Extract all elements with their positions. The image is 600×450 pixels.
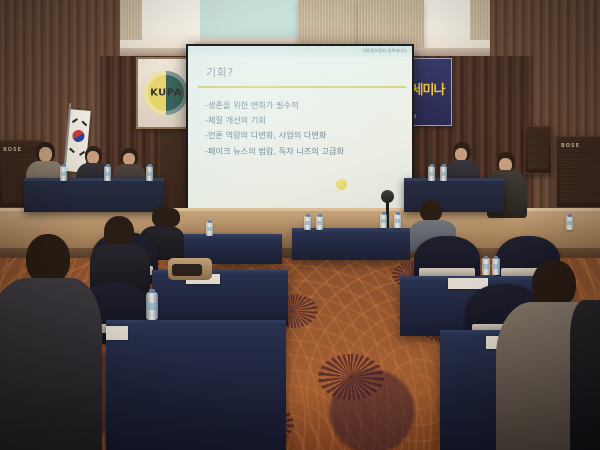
water-bottle — [146, 166, 153, 181]
water-bottle — [566, 216, 573, 230]
slide-bullet: -체질 개선의 기회 — [205, 113, 402, 128]
attendee-head — [26, 234, 70, 284]
audience-table — [292, 228, 410, 260]
bottle-cap — [484, 256, 488, 259]
slide-surface: 대한홍보협회 정책세미나 기회? -생존을 위한 변화가 필수적 -체질 개선의… — [188, 46, 412, 216]
speaker-brand-label-right: BOSE — [561, 143, 580, 149]
water-bottle — [304, 216, 311, 230]
bottle-cap — [382, 212, 386, 215]
slide-decorative-dot-icon — [336, 179, 347, 190]
panel-table-edge — [24, 178, 164, 181]
speaker-grill-right — [560, 141, 600, 203]
panelist-face — [39, 147, 52, 162]
seminar-room-photo: KUPA 세미나 정책 BOSE BOSE 대한홍보협회 정책세미나 기회? -… — [0, 0, 600, 450]
attendee-head — [532, 260, 576, 308]
slide-title-rule — [198, 86, 406, 88]
flag-trigram-3 — [69, 148, 74, 153]
speaker-brand-label-left: BOSE — [3, 147, 22, 153]
carpet-fan-motif — [318, 354, 384, 400]
chandelier-left — [298, 0, 364, 50]
water-bottle — [440, 166, 447, 181]
bottle-cap — [306, 214, 310, 217]
flag-trigram-4 — [79, 151, 85, 156]
bottle-cap — [396, 212, 400, 215]
bottle-cap — [62, 164, 66, 167]
bag-detail — [172, 264, 202, 276]
flag-taeguk-icon — [72, 130, 85, 143]
bottle-cap — [430, 164, 434, 167]
water-bottle — [316, 216, 323, 230]
attendee-body — [0, 278, 102, 450]
water-bottle — [146, 292, 158, 320]
panel-table-edge — [404, 178, 504, 181]
water-bottle — [482, 258, 490, 275]
microphone-icon — [381, 190, 394, 203]
bottle-cap — [106, 164, 110, 167]
bottle-cap — [149, 289, 155, 293]
water-bottle — [60, 166, 67, 181]
water-bottle — [394, 214, 401, 228]
loudspeaker-right: BOSE — [556, 136, 600, 208]
attendee-body — [570, 300, 600, 450]
bottle-cap — [318, 214, 322, 217]
attendee-head — [162, 208, 180, 227]
panel-table-left — [24, 178, 164, 212]
chandelier-right — [358, 0, 424, 50]
attendee-head — [420, 200, 442, 222]
water-bottle — [428, 166, 435, 181]
water-bottle — [492, 258, 500, 275]
water-bottle — [206, 222, 213, 236]
speaker-grill-stand — [528, 131, 548, 169]
loudspeaker-stand-right — [524, 126, 552, 174]
bottle-cap — [208, 220, 212, 223]
bottle-cap — [442, 164, 446, 167]
slide-bullet: -페이크 뉴스의 범람, 독자 니즈의 고급화 — [205, 144, 402, 159]
audience-table — [106, 320, 286, 450]
handout-paper — [106, 326, 128, 340]
flag-trigram-1 — [72, 118, 78, 123]
slide-title: 기회? — [206, 64, 234, 80]
slide-bullet-list: -생존을 위한 변화가 필수적 -체질 개선의 기회 -언론 역량의 다변화, … — [205, 98, 402, 159]
bottle-cap — [494, 256, 498, 259]
slide-header-note: 대한홍보협회 정책세미나 — [363, 48, 407, 54]
flag-trigram-2 — [82, 121, 87, 126]
projection-screen: 대한홍보협회 정책세미나 기회? -생존을 위한 변화가 필수적 -체질 개선의… — [186, 44, 414, 218]
water-bottle — [104, 166, 111, 181]
panel-table-right — [404, 178, 504, 212]
slide-bullet: -생존을 위한 변화가 필수적 — [205, 98, 402, 113]
bottle-cap — [148, 164, 152, 167]
bottle-cap — [568, 214, 572, 217]
slide-bullet: -언론 역량의 다변화, 사업의 다변화 — [205, 128, 402, 143]
water-bottle — [380, 214, 387, 228]
